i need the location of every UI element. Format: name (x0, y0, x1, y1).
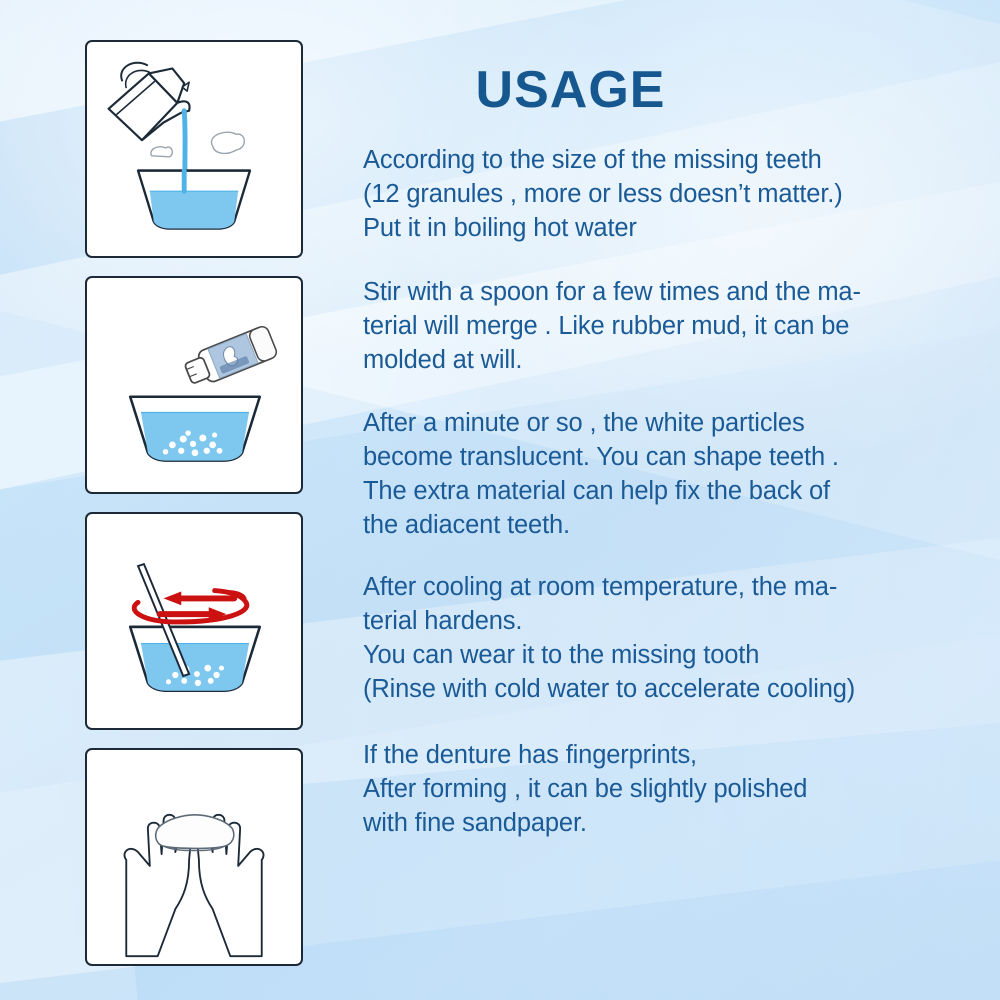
step-3-text: After a minute or so , the white particl… (363, 407, 963, 543)
steam-puff-icon (151, 132, 244, 157)
hands-molding-icon (124, 815, 263, 956)
granule-bottle-icon (182, 325, 278, 390)
step-5-text: If the denture has fingerprints, After f… (363, 739, 963, 841)
step-2-text: Stir with a spoon for a few times and th… (363, 276, 963, 378)
kettle-icon (109, 63, 190, 140)
step-3-stir-panel (85, 512, 303, 730)
usage-text-column: USAGE According to the size of the missi… (363, 64, 963, 840)
step-1-kettle-pour-panel (85, 40, 303, 258)
step-2-add-granules-panel (85, 276, 303, 494)
step-4-text: After cooling at room temperature, the m… (363, 571, 963, 707)
page-title: USAGE (363, 64, 778, 116)
bowl-icon (130, 627, 260, 691)
step-1-text: According to the size of the missing tee… (363, 144, 963, 246)
usage-infographic: USAGE According to the size of the missi… (0, 0, 1000, 1000)
step-4-mold-panel (85, 748, 303, 966)
bowl-icon (138, 171, 250, 229)
water-fill (150, 191, 238, 228)
illustration-panel-column (85, 40, 305, 966)
